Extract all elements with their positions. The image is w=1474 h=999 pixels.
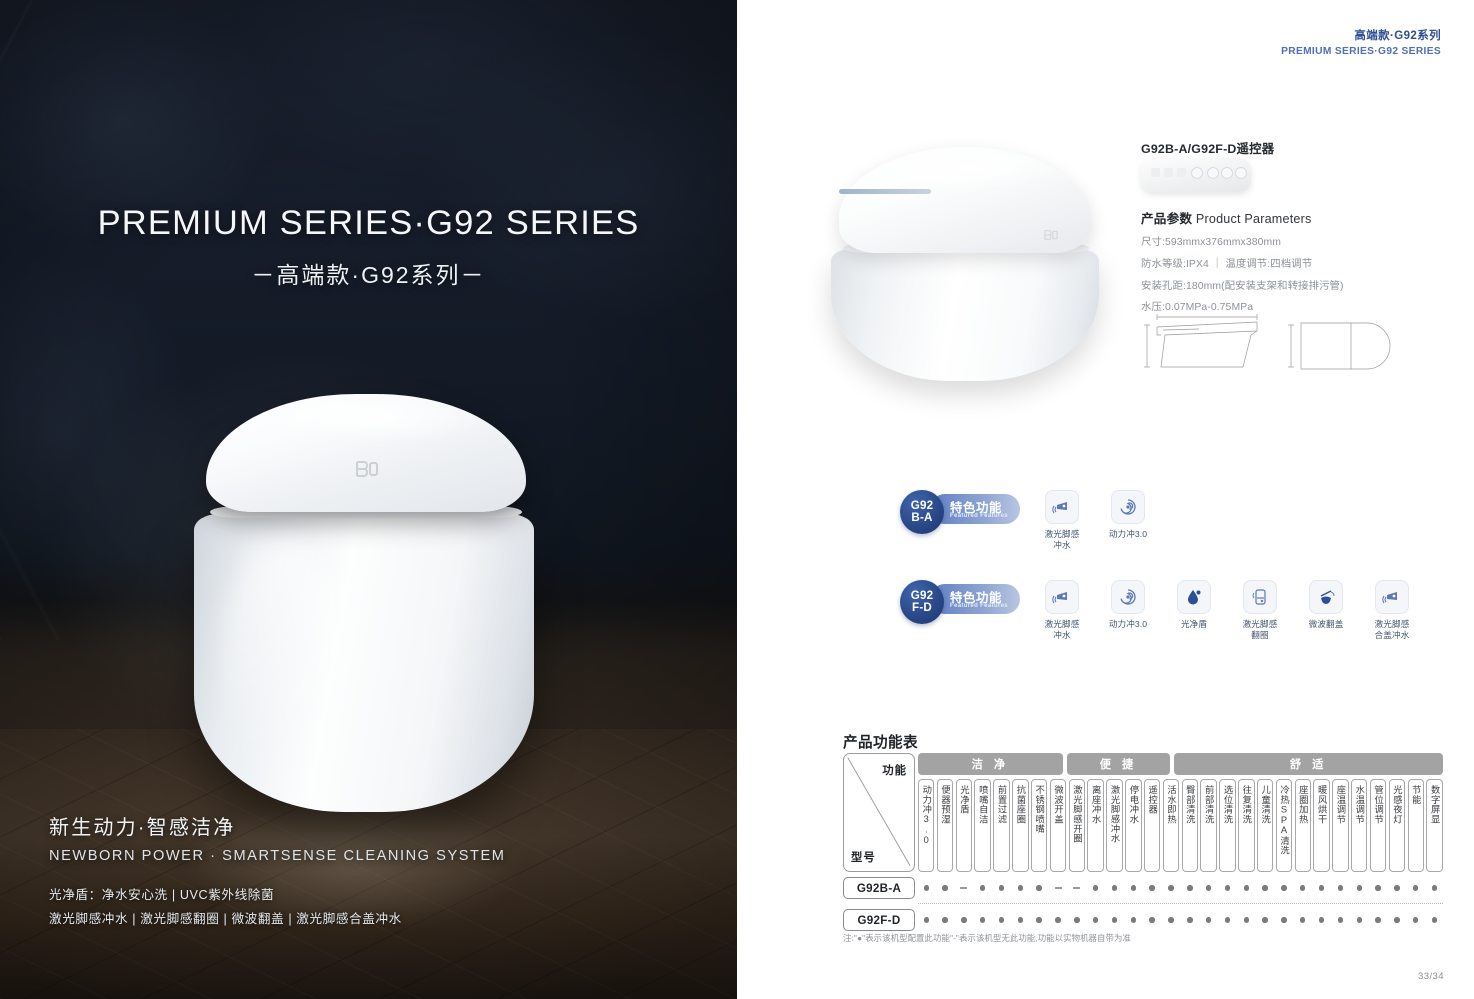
model-badge-line2: B-A [911,512,932,524]
supported-dot-icon [1262,885,1267,890]
table-column-header: 激光脚感冲水 [1106,779,1122,872]
table-cell [1426,909,1442,931]
table-column-header: 光感夜灯 [1389,779,1405,872]
table-cell [1012,909,1028,931]
remote-button-icon [1235,167,1247,179]
function-table-title: 产品功能表 [843,731,918,752]
table-cell [993,877,1009,899]
supported-dot-icon [1244,885,1249,890]
supported-dot-icon [1018,917,1023,922]
feature-label: 激光脚感 翻圈 [1238,619,1282,641]
table-cell [1238,909,1254,931]
feature-group-g92fd: 特色功能 Featured Features G92 F-D 激光脚感 冲水 [900,580,1020,624]
supported-dot-icon [1244,917,1249,922]
table-row-separator [918,903,1443,904]
supported-dot-icon [961,917,966,922]
table-cell [1313,877,1329,899]
supported-dot-icon [999,885,1004,890]
table-column-header: 前置过滤 [993,779,1009,872]
feature-item: 动力冲3.0 [1106,490,1150,551]
table-column-header: 微波开盖 [1050,779,1066,872]
corner-header-cn: 高端款·G92系列 [1281,27,1441,43]
table-cell [1257,909,1273,931]
laser-foot-sense-close-flush-icon [1375,580,1409,614]
table-column-label: 激光脚感冲水 [1109,785,1119,843]
table-column-label: 臀部清洗 [1185,785,1195,824]
unsupported-dash-icon [1055,887,1062,888]
table-column-headers: 动力冲3.0便器预湿光净盾喷嘴自洁前置过滤抗菌座圈不锈钢喷嘴微波开盖激光脚感开圈… [918,779,1443,872]
supported-dot-icon [1149,917,1154,922]
product-photo [825,143,1105,388]
table-column-header: 往复清洗 [1238,779,1254,872]
table-group-band: 便 捷 [1067,753,1170,775]
table-cell [1370,877,1386,899]
table-column-header: 节能 [1408,779,1424,872]
table-column-header: 数字屏显 [1426,779,1442,872]
supported-dot-icon [1206,885,1211,890]
supported-dot-icon [1375,885,1380,890]
hero-slogan-cn: 新生动力·智感洁净 [49,811,669,840]
table-cell [1106,877,1122,899]
feature-item: 光净盾 [1172,580,1216,641]
table-column-header: 活水即热 [1163,779,1179,872]
supported-dot-icon [942,917,947,922]
remote-control-image [1141,158,1251,192]
table-cell [1313,909,1329,931]
table-cell [1050,909,1066,931]
supported-dot-icon [1432,885,1437,890]
supported-dot-icon [1149,885,1154,890]
hero-product-image [186,394,542,814]
table-cell [1031,877,1047,899]
feature-icon-list: 激光脚感 冲水 动力冲3.0 光净盾 [1040,580,1414,641]
table-column-header: 前部清洗 [1200,779,1216,872]
table-column-header: 抗菌座圈 [1012,779,1028,872]
table-column-label: 光净盾 [959,785,969,814]
table-column-header: 喷嘴自洁 [974,779,990,872]
table-group-band: 洁 净 [918,753,1063,775]
table-cell [1219,877,1235,899]
hero-title-en: PREMIUM SERIES·G92 SERIES [0,204,737,243]
remote-button-icon [1151,168,1160,177]
supported-dot-icon [1018,885,1023,890]
supported-dot-icon [1281,885,1286,890]
table-column-header: 激光脚感开圈 [1069,779,1085,872]
laser-foot-sense-flush-icon [1045,580,1079,614]
table-column-label: 儿童清洗 [1260,785,1270,824]
table-column-label: 座圈加热 [1298,785,1308,824]
table-column-label: 激光脚感开圈 [1072,785,1082,843]
table-column-label: 数字屏显 [1430,785,1440,824]
parameters-heading: 产品参数 Product Parameters [1141,208,1451,227]
table-column-label: 往复清洗 [1241,785,1251,824]
table-cell [1389,877,1405,899]
supported-dot-icon [980,885,985,890]
hero-slogan-en: NEWBORN POWER · SMARTSENSE CLEANING SYST… [49,848,669,864]
remote-button-icon [1207,167,1219,179]
supported-dot-icon [1300,885,1305,890]
table-column-header: 座温调节 [1332,779,1348,872]
table-column-label: 光感夜灯 [1392,785,1402,824]
table-column-label: 喷嘴自洁 [978,785,988,824]
parameter-line: 安装孔距:180mm(配安装支架和转接排污管) [1141,279,1451,295]
table-cell [1106,909,1122,931]
table-cell [1050,877,1066,899]
supported-dot-icon [1319,885,1324,890]
table-column-header: 便器预湿 [937,779,953,872]
table-cell [1351,877,1367,899]
supported-dot-icon [1131,917,1136,922]
table-column-header: 不锈钢喷嘴 [1031,779,1047,872]
power-flush-icon [1111,580,1145,614]
table-cell [1351,909,1367,931]
remote-title: G92B-A/G92F-D遥控器 [1141,139,1274,157]
supported-dot-icon [1036,917,1041,922]
model-badge-line2: F-D [912,602,932,614]
feature-group-g92ba: 特色功能 Featured Features G92 B-A 激光脚感 冲水 [900,490,1020,534]
table-column-header: 冷热SPA清洗 [1276,779,1292,872]
supported-dot-icon [1225,885,1230,890]
power-flush-icon [1111,490,1145,524]
table-cell [1276,909,1292,931]
supported-dot-icon [1357,885,1362,890]
remote-button-icon [1177,168,1186,177]
hero-feature-list: 光净盾：净水安心洗 | UVC紫外线除菌 激光脚感冲水 | 激光脚感翻圈 | 微… [49,884,669,931]
table-cell [1257,877,1273,899]
table-row-model: G92B-A [843,877,915,899]
table-cell [918,877,934,899]
table-cell [918,909,934,931]
table-cell [974,909,990,931]
feature-label: 动力冲3.0 [1106,529,1150,540]
table-column-label: 节能 [1411,785,1421,804]
table-row-values [918,877,1443,899]
table-cell [1182,909,1198,931]
table-columns-area: 洁 净便 捷舒 适 动力冲3.0便器预湿光净盾喷嘴自洁前置过滤抗菌座圈不锈钢喷嘴… [918,753,1443,872]
table-cell [1295,877,1311,899]
microwave-lid-icon [1309,580,1343,614]
supported-dot-icon [1112,885,1117,890]
supported-dot-icon [1394,917,1399,922]
table-column-label: 前置过滤 [997,785,1007,824]
parameters-heading-cn: 产品参数 [1141,212,1192,226]
hero-copy-block: 新生动力·智感洁净 NEWBORN POWER · SMARTSENSE CLE… [49,811,669,931]
table-group-bands: 洁 净便 捷舒 适 [918,753,1443,775]
supported-dot-icon [1338,917,1343,922]
table-cell [1163,877,1179,899]
supported-dot-icon [1131,885,1136,890]
table-cell [1125,909,1141,931]
table-column-header: 座圈加热 [1295,779,1311,872]
supported-dot-icon [1432,917,1437,922]
supported-dot-icon [1074,917,1079,922]
table-column-label: 暖风烘干 [1317,785,1327,824]
table-cell [1012,877,1028,899]
brand-logo-icon [1043,229,1059,241]
table-column-header: 停电冲水 [1125,779,1141,872]
table-column-header: 动力冲3.0 [918,779,934,872]
corner-header-en: PREMIUM SERIES·G92 SERIES [1281,46,1441,57]
table-column-header: 管位调节 [1370,779,1386,872]
table-cell [956,877,972,899]
table-cell [1332,909,1348,931]
unsupported-dash-icon [960,887,967,888]
feature-label: 微波翻盖 [1304,619,1348,630]
table-cell [1219,909,1235,931]
corner-label-function: 功能 [882,762,907,778]
feature-label: 激光脚感 冲水 [1040,529,1084,551]
remote-button-icon [1191,167,1203,179]
supported-dot-icon [999,917,1004,922]
hero-panel: PREMIUM SERIES·G92 SERIES －高端款·G92系列－ 新生… [0,0,737,999]
table-data-rows: G92B-AG92F-D [843,877,1443,931]
table-cell [1426,877,1442,899]
table-cell [1069,909,1085,931]
feature-label: 激光脚感 合盖冲水 [1370,619,1414,641]
table-cell [1087,909,1103,931]
unsupported-dash-icon [1073,887,1080,888]
supported-dot-icon [1187,885,1192,890]
supported-dot-icon [1338,885,1343,890]
supported-dot-icon [1093,917,1098,922]
supported-dot-icon [1093,885,1098,890]
supported-dot-icon [1225,917,1230,922]
table-cell [1370,909,1386,931]
table-column-header: 遥控器 [1144,779,1160,872]
supported-dot-icon [1168,917,1173,922]
table-cell [993,909,1009,931]
table-column-label: 停电冲水 [1128,785,1138,824]
supported-dot-icon [1413,885,1418,890]
table-column-label: 前部清洗 [1204,785,1214,824]
table-row-model: G92F-D [843,909,915,931]
remote-button-icon [1221,167,1233,179]
feature-badge-g92ba: 特色功能 Featured Features G92 B-A [900,490,1020,534]
supported-dot-icon [1281,917,1286,922]
supported-dot-icon [1036,885,1041,890]
feature-label: 光净盾 [1172,619,1216,630]
hero-product-highlight [258,403,483,443]
table-cell [1276,877,1292,899]
function-table: 功能 型号 洁 净便 捷舒 适 动力冲3.0便器预湿光净盾喷嘴自洁前置过滤抗菌座… [843,753,1443,931]
feature-item: 激光脚感 翻圈 [1238,580,1282,641]
feature-icon-list: 激光脚感 冲水 动力冲3.0 [1040,490,1150,551]
supported-dot-icon [942,885,947,890]
supported-dot-icon [924,885,929,890]
supported-dot-icon [1300,917,1305,922]
table-cell [1200,909,1216,931]
supported-dot-icon [924,917,929,922]
product-photo-highlight [883,155,1058,189]
parameters-heading-en: Product Parameters [1196,212,1312,226]
featured-features-en: Featured Features [950,513,1008,519]
supported-dot-icon [1055,917,1060,922]
supported-dot-icon [980,917,985,922]
parameter-line: 防水等级:IPX4 ｜ 温度调节:四档调节 [1141,257,1451,273]
table-column-label: 座温调节 [1335,785,1345,824]
catalog-page: PREMIUM SERIES·G92 SERIES －高端款·G92系列－ 新生… [0,0,1474,999]
table-cell [1200,877,1216,899]
table-cell [956,909,972,931]
table-column-label: 抗菌座圈 [1015,785,1025,824]
hero-title-cn: －高端款·G92系列－ [0,256,737,290]
table-column-label: 管位调节 [1373,785,1383,824]
table-column-label: 活水即热 [1166,785,1176,824]
table-cell [1332,877,1348,899]
table-cell [1144,909,1160,931]
page-number: 33/34 [1418,971,1444,982]
supported-dot-icon [1262,917,1267,922]
table-cell [937,877,953,899]
table-column-label: 选位清洗 [1222,785,1232,824]
supported-dot-icon [1112,917,1117,922]
laser-foot-sense-seat-icon [1243,580,1277,614]
supported-dot-icon [1375,917,1380,922]
featured-features-en: Featured Features [950,603,1008,609]
table-group-band: 舒 适 [1174,753,1443,775]
table-row: G92F-D [843,909,1443,931]
remote-button-icon [1164,168,1173,177]
table-cell [1408,909,1424,931]
supported-dot-icon [1168,885,1173,890]
table-column-label: 动力冲3.0 [921,785,931,845]
table-cell [1408,877,1424,899]
table-row: G92B-A [843,877,1443,899]
table-cell [1389,909,1405,931]
table-cell [1295,909,1311,931]
table-column-header: 儿童清洗 [1257,779,1273,872]
corner-header: 高端款·G92系列 PREMIUM SERIES·G92 SERIES [1281,27,1441,57]
feature-label: 激光脚感 冲水 [1040,619,1084,641]
hero-product-body [194,514,534,812]
table-column-header: 臀部清洗 [1182,779,1198,872]
table-cell [1069,877,1085,899]
table-column-label: 冷热SPA清洗 [1279,785,1289,855]
feature-label: 动力冲3.0 [1106,619,1150,630]
parameter-line: 尺寸:593mmx376mmx380mm [1141,235,1451,251]
table-column-label: 微波开盖 [1053,785,1063,824]
table-column-label: 离座冲水 [1091,785,1101,824]
corner-label-model: 型号 [851,849,876,865]
supported-dot-icon [1394,885,1399,890]
table-column-header: 水温调节 [1351,779,1367,872]
product-photo-hinge [839,189,931,194]
hero-title-block: PREMIUM SERIES·G92 SERIES －高端款·G92系列－ [0,204,737,290]
feature-item: 激光脚感 冲水 [1040,580,1084,641]
feature-item: 激光脚感 冲水 [1040,490,1084,551]
table-cell [937,909,953,931]
feature-item: 激光脚感 合盖冲水 [1370,580,1414,641]
table-column-label: 不锈钢喷嘴 [1034,785,1044,834]
table-cell [1125,877,1141,899]
model-badge-g92fd: G92 F-D [900,580,944,624]
supported-dot-icon [1413,917,1418,922]
table-row-values [918,909,1443,931]
table-header-row: 功能 型号 洁 净便 捷舒 适 动力冲3.0便器预湿光净盾喷嘴自洁前置过滤抗菌座… [843,753,1443,872]
hero-feature-line: 光净盾：净水安心洗 | UVC紫外线除菌 [49,884,669,907]
feature-badge-g92fd: 特色功能 Featured Features G92 F-D [900,580,1020,624]
table-cell [1031,909,1047,931]
feature-item: 微波翻盖 [1304,580,1348,641]
table-column-header: 暖风烘干 [1313,779,1329,872]
table-cell [1144,877,1160,899]
table-column-label: 水温调节 [1354,785,1364,824]
hero-product-lid [206,394,526,512]
table-note: 注:"●"表示该机型配置此功能"-"表示该机型无此功能,功能以实物机器自带为准 [843,932,1131,944]
supported-dot-icon [1187,917,1192,922]
table-cell [1087,877,1103,899]
supported-dot-icon [1357,917,1362,922]
hero-feature-line: 激光脚感冲水 | 激光脚感翻圈 | 微波翻盖 | 激光脚感合盖冲水 [49,908,669,931]
feature-item: 动力冲3.0 [1106,580,1150,641]
laser-foot-sense-flush-icon [1045,490,1079,524]
table-corner-cell: 功能 型号 [843,753,915,872]
technical-drawings [1139,305,1439,373]
supported-dot-icon [1206,917,1211,922]
technical-drawing-svg [1139,305,1439,373]
table-cell [1163,909,1179,931]
table-column-label: 便器预湿 [940,785,950,824]
model-badge-g92ba: G92 B-A [900,490,944,534]
supported-dot-icon [1319,917,1324,922]
table-column-header: 选位清洗 [1219,779,1235,872]
product-photo-body [831,249,1099,381]
hero-product-sheen [224,540,344,770]
table-cell [1182,877,1198,899]
table-cell [974,877,990,899]
table-cell [1238,877,1254,899]
table-column-header: 光净盾 [956,779,972,872]
product-parameters: 产品参数 Product Parameters 尺寸:593mmx376mmx3… [1141,208,1451,316]
clean-water-shield-icon [1177,580,1211,614]
brand-logo-icon [354,460,380,478]
table-column-label: 遥控器 [1147,785,1157,814]
table-column-header: 离座冲水 [1087,779,1103,872]
